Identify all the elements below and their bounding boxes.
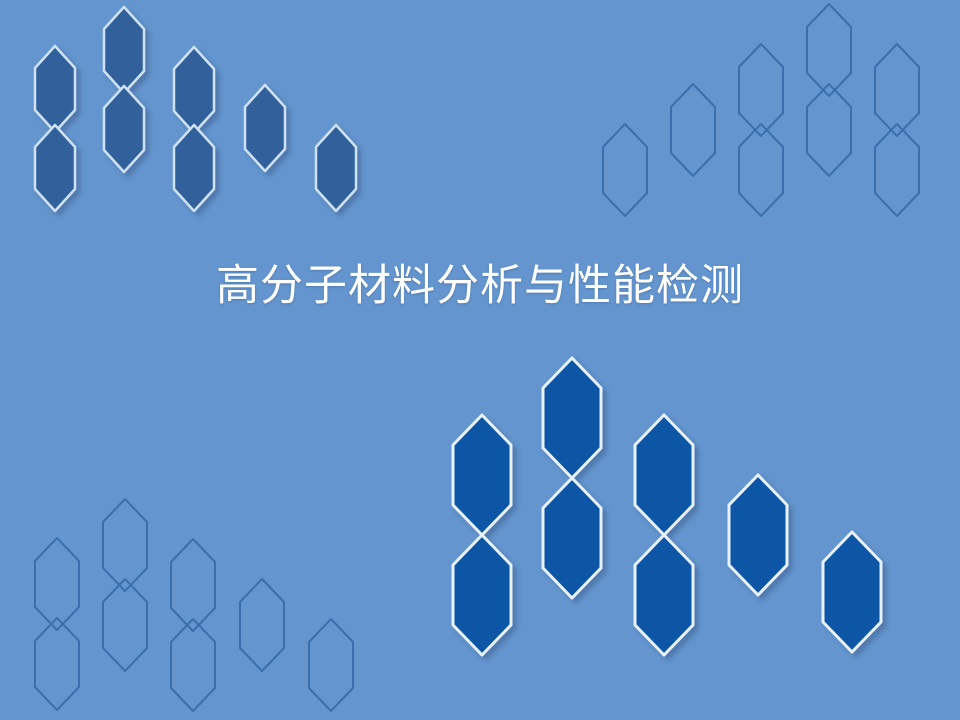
cluster-bottom-left-outline bbox=[35, 499, 353, 711]
hexagon-decoration-layer bbox=[0, 0, 960, 720]
hexagon-shape bbox=[245, 85, 285, 171]
hexagon-shape bbox=[543, 358, 601, 478]
hexagon-shape bbox=[635, 535, 693, 655]
hexagon-shape bbox=[729, 475, 787, 595]
hexagon-shape bbox=[174, 47, 214, 133]
hexagon-outline-shape bbox=[875, 124, 919, 216]
hexagon-outline-shape bbox=[103, 499, 147, 591]
hexagon-shape bbox=[35, 46, 75, 132]
hexagon-outline-shape bbox=[671, 84, 715, 176]
hexagon-shape bbox=[104, 86, 144, 172]
hexagon-outline-shape bbox=[171, 619, 215, 711]
hexagon-outline-shape bbox=[739, 124, 783, 216]
page-title: 高分子材料分析与性能检测 bbox=[216, 258, 744, 314]
hexagon-shape bbox=[316, 125, 356, 211]
title-slide: 高分子材料分析与性能检测 bbox=[0, 0, 960, 720]
hexagon-outline-shape bbox=[603, 124, 647, 216]
hexagon-outline-shape bbox=[103, 579, 147, 671]
hexagon-outline-shape bbox=[807, 4, 851, 96]
cluster-top-left-filled bbox=[35, 7, 356, 211]
hexagon-shape bbox=[174, 125, 214, 211]
hexagon-shape bbox=[635, 415, 693, 535]
hexagon-shape bbox=[823, 532, 881, 652]
hexagon-outline-shape bbox=[171, 539, 215, 631]
cluster-bottom-right-filled bbox=[453, 358, 881, 655]
hexagon-outline-shape bbox=[35, 538, 79, 630]
hexagon-outline-shape bbox=[739, 44, 783, 136]
title-placeholder: 高分子材料分析与性能检测 bbox=[0, 258, 960, 314]
hexagon-outline-shape bbox=[35, 618, 79, 710]
hexagon-shape bbox=[453, 415, 511, 535]
hexagon-shape bbox=[104, 7, 144, 93]
cluster-top-right-outline bbox=[603, 4, 919, 216]
hexagon-shape bbox=[453, 535, 511, 655]
hexagon-outline-shape bbox=[240, 579, 284, 671]
hexagon-outline-shape bbox=[807, 84, 851, 176]
hexagon-outline-shape bbox=[309, 619, 353, 711]
hexagon-shape bbox=[543, 478, 601, 598]
hexagon-outline-shape bbox=[875, 44, 919, 136]
hexagon-shape bbox=[35, 125, 75, 211]
